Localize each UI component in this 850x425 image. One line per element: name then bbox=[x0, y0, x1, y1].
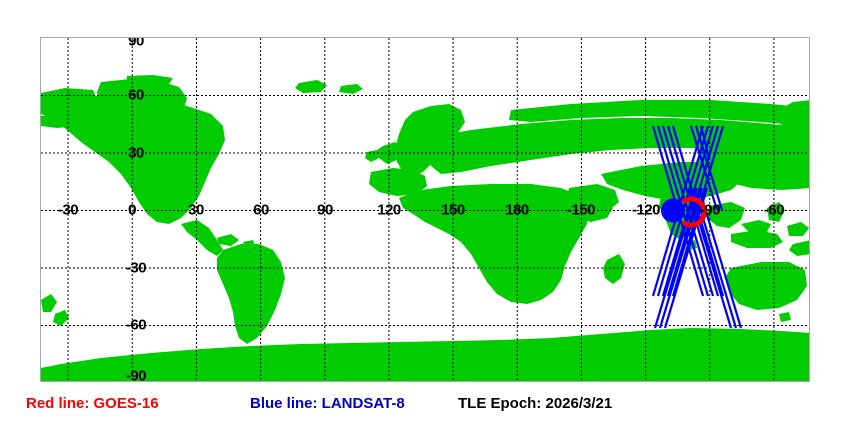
lon-label-90: 90 bbox=[317, 203, 333, 218]
lon-label-30: 30 bbox=[188, 203, 204, 218]
lon-label-120: 120 bbox=[377, 203, 401, 218]
lat-label--60: -60 bbox=[126, 318, 146, 333]
lon-label--90: -90 bbox=[700, 203, 720, 218]
lon-label--150: -150 bbox=[567, 203, 595, 218]
lon-label--120: -120 bbox=[632, 203, 660, 218]
lon-label-150: 150 bbox=[441, 203, 465, 218]
lat-label-90: 90 bbox=[128, 37, 144, 49]
legend-red-line-goes16: Red line: GOES-16 bbox=[26, 394, 159, 414]
legend: Red line: GOES-16 Blue line: LANDSAT-8 T… bbox=[0, 394, 850, 422]
legend-tle-epoch: TLE Epoch: 2026/3/21 bbox=[458, 394, 612, 414]
legend-blue-line-landsat8: Blue line: LANDSAT-8 bbox=[250, 394, 405, 414]
lat-label-30: 30 bbox=[128, 146, 144, 161]
map-canvas bbox=[41, 38, 810, 382]
lat-label--30: -30 bbox=[126, 261, 146, 276]
lat-label-60: 60 bbox=[128, 88, 144, 103]
lon-label-60: 60 bbox=[253, 203, 269, 218]
lon-label-180: 180 bbox=[505, 203, 529, 218]
landsat8-position-dot bbox=[661, 199, 685, 223]
world-map[interactable]: -30 0 30 60 90 120 150 180 -150 -120 -90… bbox=[40, 37, 810, 382]
lon-label--60: -60 bbox=[764, 203, 784, 218]
lat-label--90: -90 bbox=[126, 369, 146, 383]
screenshot-root: -30 0 30 60 90 120 150 180 -150 -120 -90… bbox=[0, 0, 850, 425]
lat-label-0: 0 bbox=[128, 203, 136, 218]
lon-label--30: -30 bbox=[58, 203, 78, 218]
